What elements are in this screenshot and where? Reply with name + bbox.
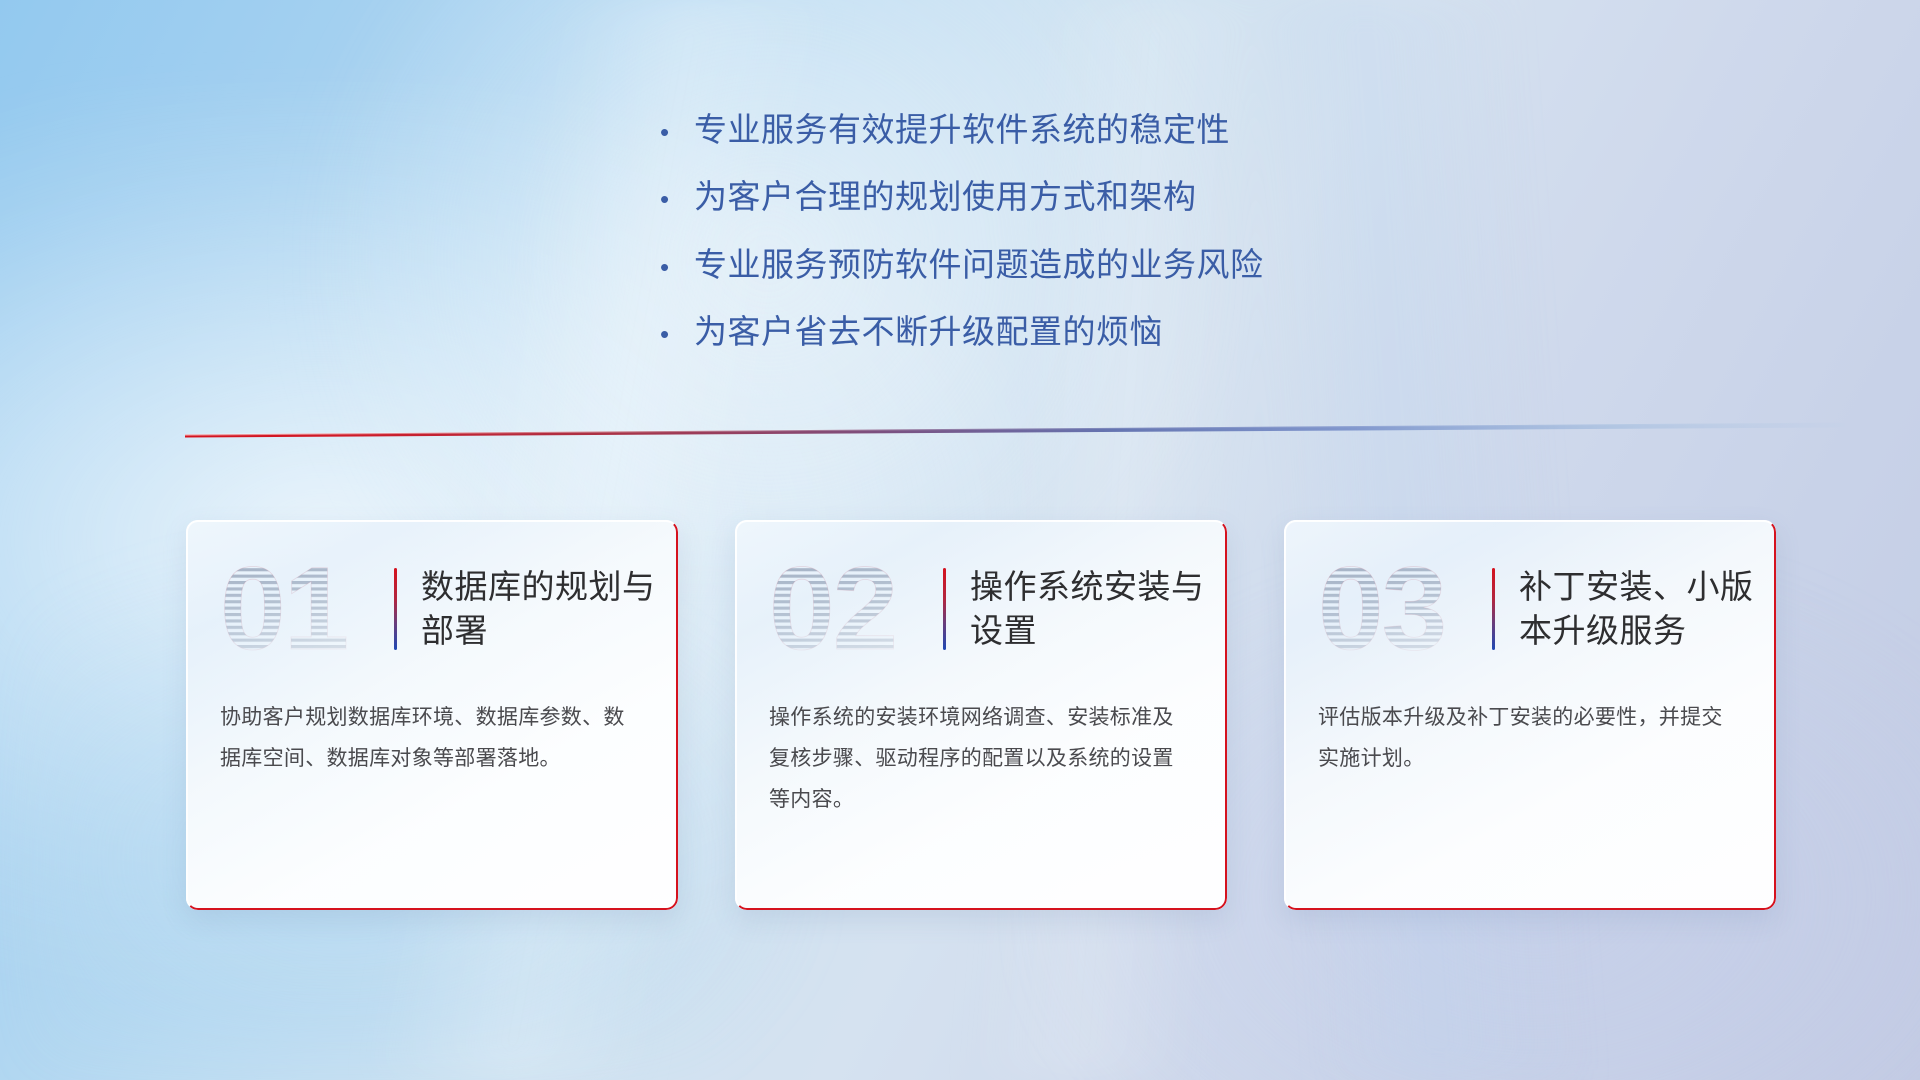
bullet-point-icon: •	[660, 254, 694, 280]
card-title: 操作系统安装与设置	[970, 565, 1220, 652]
bullet-label: 专业服务预防软件问题造成的业务风险	[694, 245, 1264, 285]
bullet-item-3: • 专业服务预防软件问题造成的业务风险	[660, 245, 1560, 285]
service-card-row: 01 01 数据库的规划与部署 协助客户规划数据库环境、数据库参数、数据库空间、…	[186, 520, 1776, 910]
bullet-item-1: • 专业服务有效提升软件系统的稳定性	[660, 110, 1560, 150]
card-title: 补丁安装、小版本升级服务	[1519, 565, 1769, 652]
card-header: 03 03 补丁安装、小版本升级服务	[1284, 520, 1776, 698]
svg-text:01: 01	[220, 549, 347, 669]
card-accent-rule	[1492, 568, 1495, 650]
bullet-point-icon: •	[660, 321, 694, 347]
card-number-watermark: 02 02	[769, 549, 929, 669]
card-header: 02 02 操作系统安装与设置	[735, 520, 1227, 698]
svg-text:02: 02	[769, 549, 896, 669]
service-card-01[interactable]: 01 01 数据库的规划与部署 协助客户规划数据库环境、数据库参数、数据库空间、…	[186, 520, 678, 910]
card-title: 数据库的规划与部署	[421, 565, 671, 652]
bullet-point-icon: •	[660, 119, 694, 145]
bullet-label: 为客户合理的规划使用方式和架构	[694, 177, 1197, 217]
service-card-03[interactable]: 03 03 补丁安装、小版本升级服务 评估版本升级及补丁安装的必要性，并提交实施…	[1284, 520, 1776, 910]
card-number-watermark: 01 01	[220, 549, 380, 669]
section-divider	[185, 414, 1845, 440]
card-description: 评估版本升级及补丁安装的必要性，并提交实施计划。	[1284, 698, 1776, 780]
benefits-bullet-list: • 专业服务有效提升软件系统的稳定性 • 为客户合理的规划使用方式和架构 • 专…	[660, 110, 1560, 379]
card-header: 01 01 数据库的规划与部署	[186, 520, 678, 698]
bullet-point-icon: •	[660, 186, 694, 212]
service-card-02[interactable]: 02 02 操作系统安装与设置 操作系统的安装环境网络调查、安装标准及复核步骤、…	[735, 520, 1227, 910]
card-description: 协助客户规划数据库环境、数据库参数、数据库空间、数据库对象等部署落地。	[186, 698, 678, 780]
card-accent-rule	[943, 568, 946, 650]
bullet-label: 专业服务有效提升软件系统的稳定性	[694, 110, 1230, 150]
svg-text:03: 03	[1318, 549, 1445, 669]
card-description: 操作系统的安装环境网络调查、安装标准及复核步骤、驱动程序的配置以及系统的设置等内…	[735, 698, 1227, 821]
card-accent-rule	[394, 568, 397, 650]
slide-canvas: • 专业服务有效提升软件系统的稳定性 • 为客户合理的规划使用方式和架构 • 专…	[0, 0, 1920, 1080]
card-number-watermark: 03 03	[1318, 549, 1478, 669]
bullet-label: 为客户省去不断升级配置的烦恼	[694, 312, 1163, 352]
bullet-item-4: • 为客户省去不断升级配置的烦恼	[660, 312, 1560, 352]
bullet-item-2: • 为客户合理的规划使用方式和架构	[660, 177, 1560, 217]
